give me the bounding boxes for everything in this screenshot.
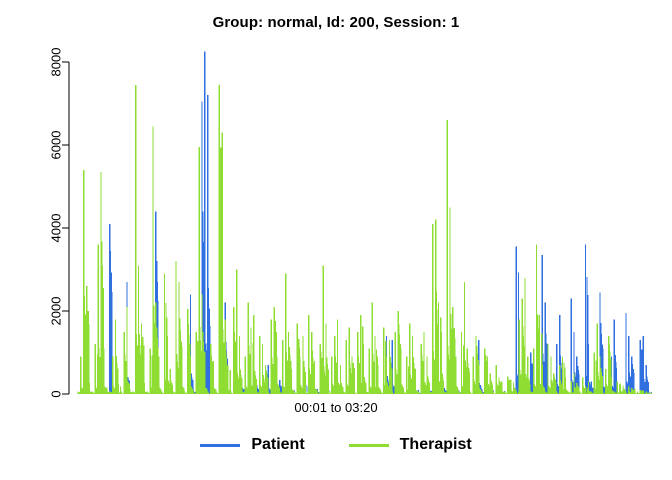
- y-tick-label: 4000: [49, 214, 64, 243]
- x-axis-label: 00:01 to 03:20: [0, 400, 672, 415]
- legend-label-therapist: Therapist: [400, 437, 472, 453]
- y-tick-label: 2000: [49, 297, 64, 326]
- legend-item-patient: Patient: [200, 437, 304, 453]
- series-layer: [78, 52, 651, 394]
- legend-swatch-therapist: [349, 444, 389, 447]
- chart-legend: Patient Therapist: [0, 437, 672, 453]
- y-tick-label: 0: [49, 390, 64, 397]
- y-tick-label: 6000: [49, 131, 64, 160]
- legend-item-therapist: Therapist: [349, 437, 472, 453]
- legend-label-patient: Patient: [251, 437, 304, 453]
- series-therapist: [78, 85, 651, 394]
- y-axis: 02000400060008000: [49, 48, 70, 398]
- chart-plot-area: Group: normal, Id: 200, Session: 1 02000…: [0, 0, 672, 480]
- y-tick-label: 8000: [49, 48, 64, 77]
- legend-swatch-patient: [200, 444, 240, 447]
